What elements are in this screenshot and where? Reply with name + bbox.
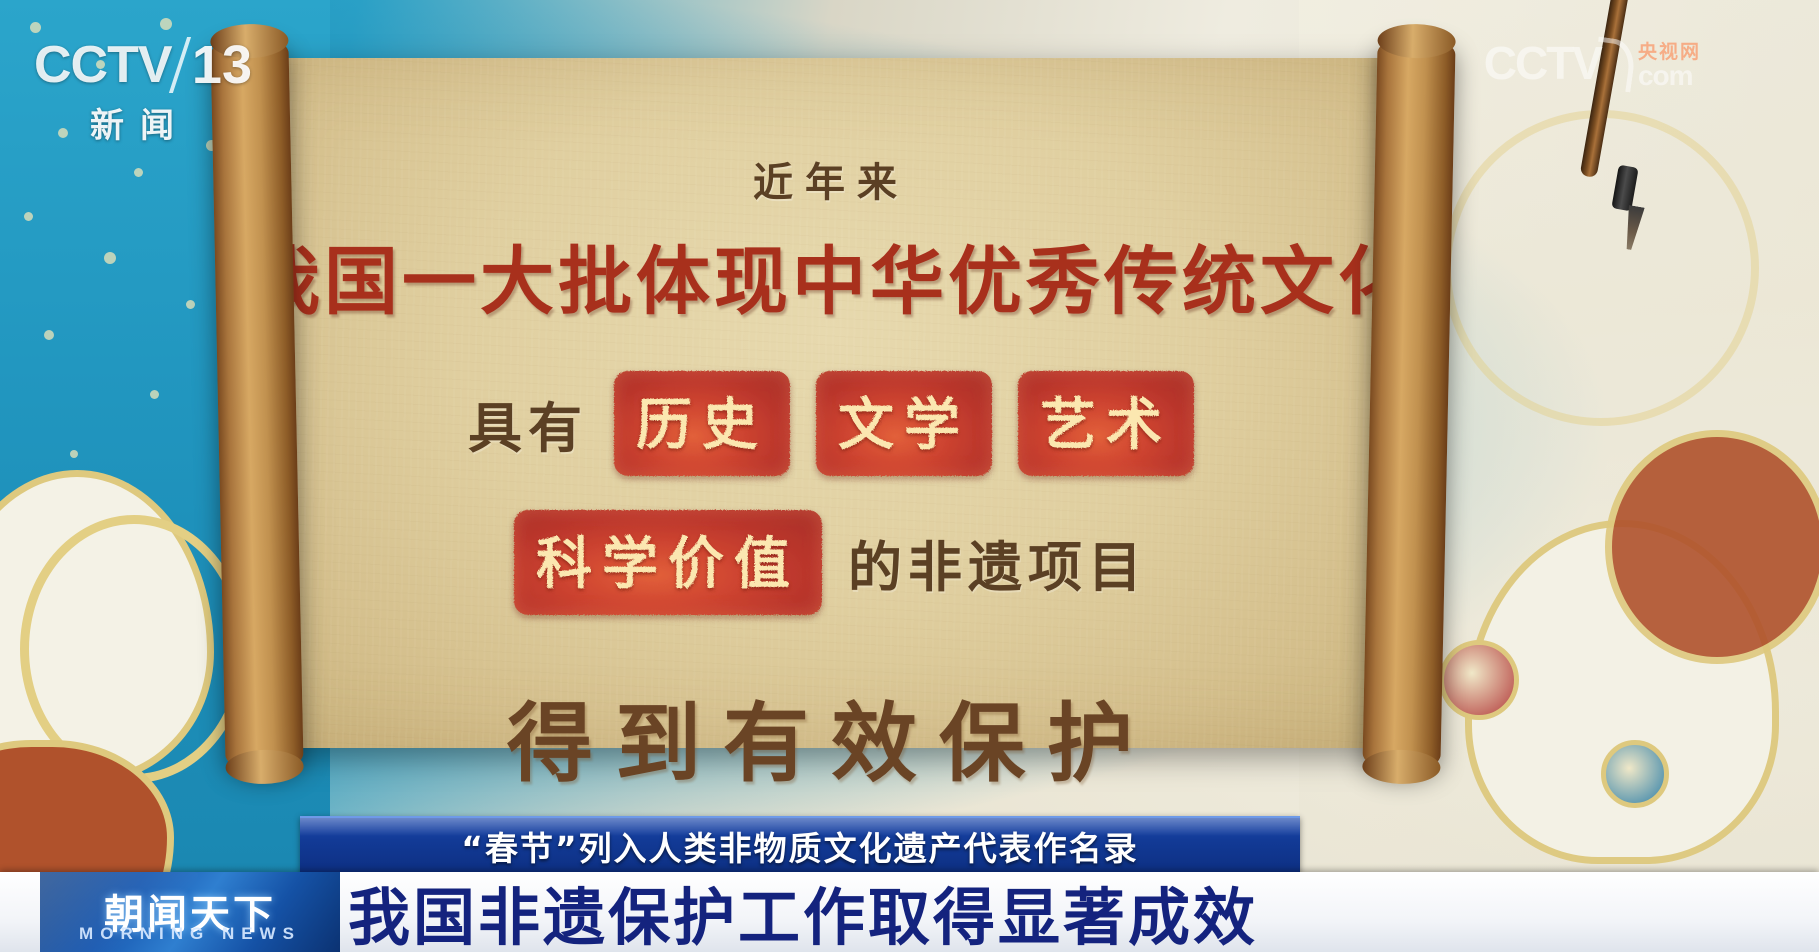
watermark-com-label: com — [1638, 62, 1701, 90]
decor-rose-right — [1439, 640, 1519, 720]
watermark-right-stack: 央视网 com — [1638, 43, 1701, 90]
scroll-headline: 我国一大批体现中华优秀传统文化 — [246, 222, 1416, 329]
scroll-text-block: 近年来 我国一大批体现中华优秀传统文化 具有 历史 文学 艺术 科学价值 的非遗… — [256, 58, 1406, 748]
scroll-roller-right — [1362, 35, 1455, 772]
decor-arc-right — [1443, 110, 1759, 426]
channel-logo: CCTV 13 新闻 — [34, 34, 252, 144]
subtitle-banner-text: “春节”列入人类非物质文化遗产代表作名录 — [461, 822, 1138, 870]
scroll-kicker: 近年来 — [753, 150, 909, 208]
channel-network-label: CCTV — [34, 35, 172, 95]
scroll-row2-suffix: 的非遗项目 — [848, 523, 1148, 602]
scroll-final-line: 得到有效保护 — [507, 673, 1155, 798]
scroll-row-values: 具有 历史 文学 艺术 — [468, 371, 1194, 476]
scroll-graphic: 近年来 我国一大批体现中华优秀传统文化 具有 历史 文学 艺术 科学价值 的非遗… — [236, 36, 1426, 752]
decor-terracotta-right — [1605, 430, 1819, 664]
seal-literature: 文学 — [816, 371, 992, 476]
program-logo: 朝闻天下 MORNING NEWS — [40, 872, 340, 952]
scroll-paper: 近年来 我国一大批体现中华优秀传统文化 具有 历史 文学 艺术 科学价值 的非遗… — [256, 58, 1406, 748]
headline-text: 我国非遗保护工作取得显著成效 — [348, 872, 1528, 952]
watermark-row: CCTV 央视网 com — [1484, 36, 1701, 90]
subtitle-banner: “春节”列入人类非物质文化遗产代表作名录 — [300, 816, 1300, 874]
channel-number-label: 13 — [192, 34, 252, 96]
program-logo-en: MORNING NEWS — [79, 924, 301, 944]
channel-logo-row: CCTV 13 — [34, 34, 252, 96]
scroll-row1-prefix: 具有 — [468, 384, 588, 463]
channel-subtitle-label: 新闻 — [34, 98, 246, 147]
watermark-arc-icon — [1592, 37, 1638, 93]
scroll-row-science: 科学价值 的非遗项目 — [514, 510, 1148, 615]
roller-cap-right-top — [1377, 23, 1456, 59]
broadcast-screen: 近年来 我国一大批体现中华优秀传统文化 具有 历史 文学 艺术 科学价值 的非遗… — [0, 0, 1819, 952]
seal-art: 艺术 — [1018, 371, 1194, 476]
watermark-cctv-label: CCTV — [1484, 36, 1601, 90]
seal-history: 历史 — [614, 371, 790, 476]
decor-rose-right-2 — [1601, 740, 1669, 808]
seal-scientific-value: 科学价值 — [514, 510, 822, 615]
cctv-dot-com-watermark: CCTV 央视网 com — [1484, 36, 1701, 90]
